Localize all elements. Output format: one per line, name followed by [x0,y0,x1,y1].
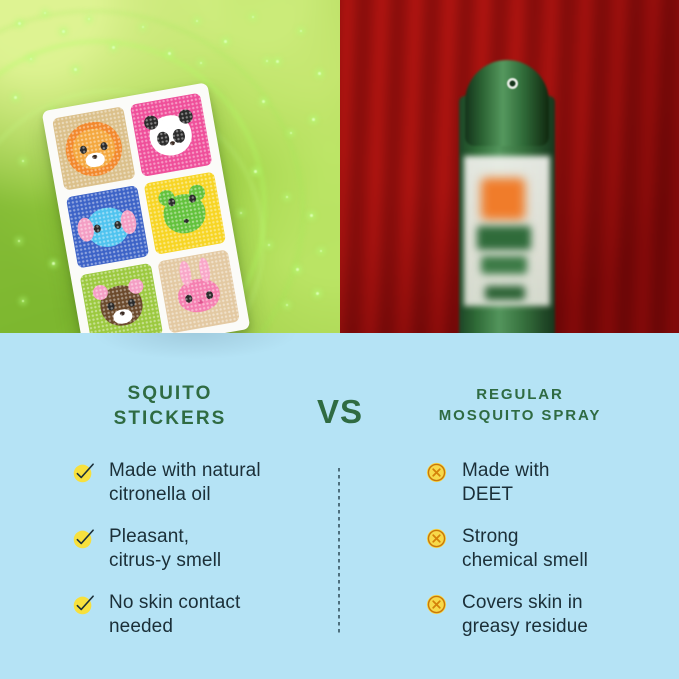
right-title-line1: REGULAR [385,384,655,405]
sparkle-icon [240,212,242,214]
sparkle-icon [142,26,144,28]
check-circle-icon [72,593,95,616]
sparkle-icon [262,100,265,103]
sparkle-icon [88,18,90,20]
sparkle-icon [196,20,198,22]
sparkle-icon [168,52,171,55]
left-title-line1: SQUITO [40,381,300,406]
hero-left-photo [0,0,340,333]
sparkle-icon [30,58,32,60]
list-item: Pleasant, citrus-y smell [72,525,322,573]
sticker-bear [80,263,163,333]
right-title-line2: MOSQUITO SPRAY [385,405,655,426]
left-title-line2: STICKERS [40,406,300,431]
list-item-text: Strong chemical smell [462,525,588,573]
hero-photo-band [0,0,679,333]
comparison-section: SQUITO STICKERS VS REGULAR MOSQUITO SPRA… [0,333,679,679]
sparkle-icon [52,262,55,265]
left-benefit-list: Made with natural citronella oil Pleasan… [72,459,322,657]
sparkle-icon [286,304,288,306]
sparkle-icon [312,118,315,121]
right-drawback-list: Made with DEET Strong chemical smell [425,459,670,657]
sticker-frog [143,171,226,255]
list-item: Covers skin in greasy residue [425,591,670,639]
sparkle-icon [18,22,21,25]
sparkle-icon [276,60,279,63]
column-divider [338,468,340,636]
sticker-panda [129,93,212,177]
x-circle-icon [425,461,448,484]
sticker-bunny [157,250,240,333]
nozzle-icon [507,78,518,89]
sparkle-icon [224,40,227,43]
sticker-elephant [66,185,149,269]
list-item-text: Made with DEET [462,459,550,507]
sparkle-icon [254,170,257,173]
sparkle-icon [300,30,302,32]
x-circle-icon [425,527,448,550]
check-circle-icon [72,527,95,550]
sparkle-icon [62,30,65,33]
x-circle-icon [425,593,448,616]
sparkle-icon [290,132,292,134]
sparkle-icon [296,268,299,271]
sparkle-icon [112,46,115,49]
list-item: Made with natural citronella oil [72,459,322,507]
left-column-title: SQUITO STICKERS [40,381,300,431]
sticker-sheet-shadow [95,333,295,359]
sparkle-icon [320,250,322,252]
sparkle-icon [22,300,24,302]
list-item: Strong chemical smell [425,525,670,573]
comparison-infographic: SQUITO STICKERS VS REGULAR MOSQUITO SPRA… [0,0,679,679]
sticker-lion [52,106,135,190]
mosquito-spray-can [459,60,555,360]
sparkle-icon [310,214,313,217]
list-item-text: Pleasant, citrus-y smell [109,525,221,573]
sparkle-icon [318,72,321,75]
sparkle-icon [18,240,20,242]
sparkle-icon [316,292,319,295]
sparkle-icon [14,96,17,99]
list-item-text: No skin contact needed [109,591,240,639]
list-item-text: Covers skin in greasy residue [462,591,588,639]
list-item: Made with DEET [425,459,670,507]
sparkle-icon [266,60,268,62]
list-item: No skin contact needed [72,591,322,639]
right-column-title: REGULAR MOSQUITO SPRAY [385,384,655,426]
sparkle-icon [22,160,24,162]
list-item-text: Made with natural citronella oil [109,459,261,507]
check-circle-icon [72,461,95,484]
sparkle-icon [74,68,77,71]
column-headings: SQUITO STICKERS VS REGULAR MOSQUITO SPRA… [0,381,679,441]
sparkle-icon [44,12,46,14]
sparkle-icon [252,16,254,18]
sparkle-icon [268,244,270,246]
sparkle-icon [286,196,288,198]
vs-label: VS [300,393,380,431]
sparkle-icon [200,62,202,64]
